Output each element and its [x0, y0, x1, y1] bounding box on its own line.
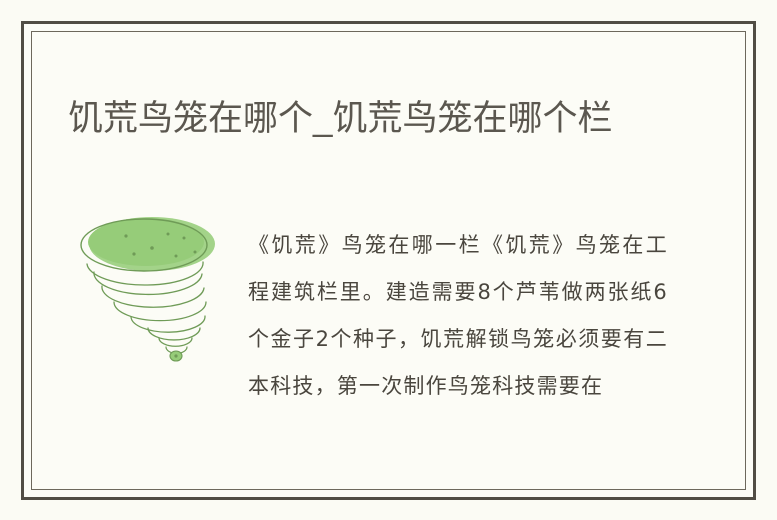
tornado-tip-center — [174, 354, 177, 357]
content-frame-outer: 饥荒鸟笼在哪个_饥荒鸟笼在哪个栏 — [21, 21, 756, 500]
tornado-speckle-dot — [167, 233, 170, 236]
tornado-spiral-arc — [131, 316, 205, 332]
tornado-spiral-arc — [94, 272, 202, 294]
tornado-speckle-dot — [175, 255, 178, 258]
article-body-text: 《饥荒》鸟笼在哪一栏《饥荒》鸟笼在工程建筑栏里。建造需要8个芦苇做两张纸6个金子… — [248, 222, 668, 410]
tornado-spiral-arc — [102, 286, 204, 307]
content-frame-inner: 饥荒鸟笼在哪个_饥荒鸟笼在哪个栏 — [31, 31, 746, 490]
green-tornado-illustration — [64, 212, 229, 367]
page-root: 饥荒鸟笼在哪个_饥荒鸟笼在哪个栏 — [0, 0, 777, 520]
tornado-speckle-dot — [132, 252, 135, 255]
page-title: 饥荒鸟笼在哪个_饥荒鸟笼在哪个栏 — [68, 93, 688, 145]
tornado-speckle-dot — [183, 237, 186, 240]
tornado-speckle-dot — [124, 234, 127, 237]
tornado-speckle-dot — [150, 246, 154, 250]
tornado-svg — [64, 212, 229, 367]
tornado-speckle-dot — [194, 251, 197, 254]
article-content: 饥荒鸟笼在哪个_饥荒鸟笼在哪个栏 — [32, 32, 745, 489]
